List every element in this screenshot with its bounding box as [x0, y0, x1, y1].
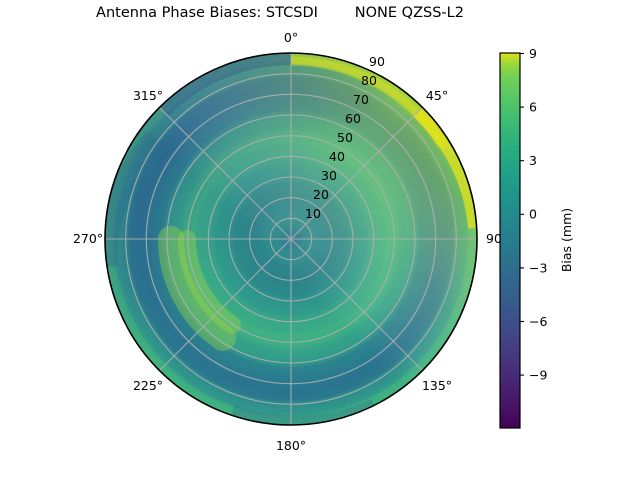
polar-grid	[105, 53, 477, 425]
radial-tick-40: 40	[329, 149, 345, 164]
angular-tick-315: 315°	[133, 88, 163, 103]
radial-tick-80: 80	[361, 73, 377, 88]
radial-tick-10: 10	[305, 206, 321, 221]
colorbar-tick-3: 3	[529, 153, 537, 168]
colorbar-tick-m6: −6	[529, 314, 547, 329]
radial-tick-70: 70	[353, 92, 369, 107]
polar-plot: 0° 45° 90 135° 180° 225° 270° 315° 10 20…	[0, 0, 640, 480]
colorbar-tick-0: 0	[529, 207, 537, 222]
angular-tick-180: 180°	[276, 438, 306, 453]
radial-tick-90: 90	[369, 54, 385, 69]
figure-canvas: Antenna Phase Biases: STCSDI NONE QZSS-L…	[0, 0, 640, 480]
colorbar-tick-9: 9	[529, 46, 537, 61]
radial-tick-30: 30	[321, 168, 337, 183]
radial-tick-60: 60	[345, 111, 361, 126]
angular-tick-135: 135°	[422, 378, 452, 393]
colorbar-tick-labels: −9 −6 −3 0 3 6 9	[529, 46, 547, 383]
radial-tick-20: 20	[313, 187, 329, 202]
angular-tick-225: 225°	[133, 378, 163, 393]
radial-tick-50: 50	[337, 130, 353, 145]
colorbar-tick-m3: −3	[529, 260, 547, 275]
colorbar-tick-m9: −9	[529, 368, 547, 383]
colorbar-axis-label: Bias (mm)	[559, 208, 574, 272]
angular-tick-45: 45°	[426, 88, 448, 103]
angular-tick-270: 270°	[73, 231, 103, 246]
angular-tick-0: 0°	[284, 30, 298, 45]
colorbar-tick-6: 6	[529, 100, 537, 115]
colorbar-gradient	[500, 53, 520, 428]
colorbar: −9 −6 −3 0 3 6 9 Bias (mm)	[500, 46, 574, 428]
